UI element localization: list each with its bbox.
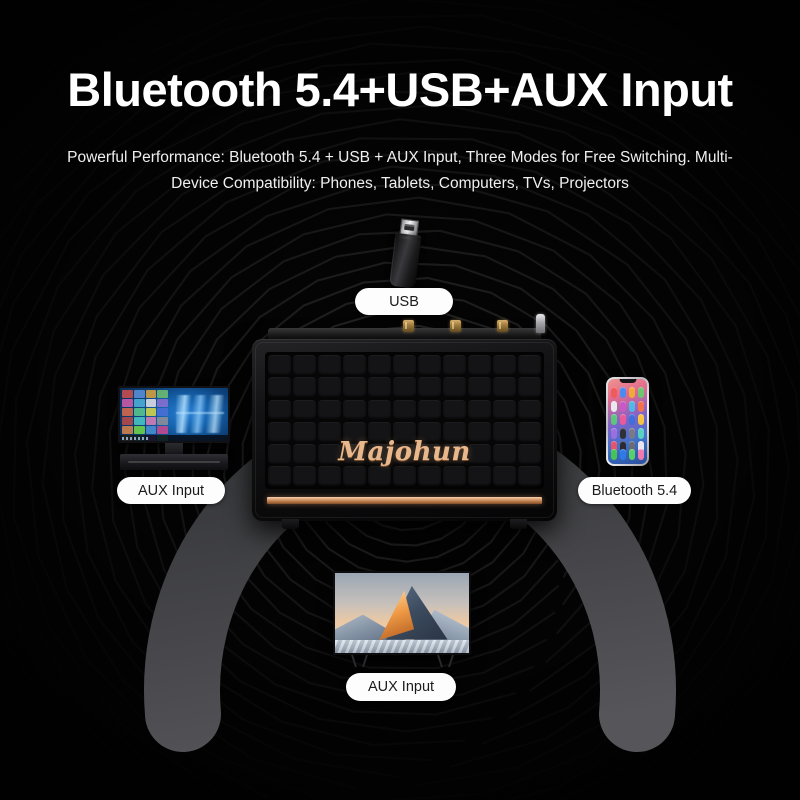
phone-dock-icon — [638, 449, 644, 460]
phone-app-icon — [638, 414, 644, 425]
page-title: Bluetooth 5.4+USB+AUX Input — [0, 62, 800, 117]
grille-cell — [293, 400, 316, 420]
monitor-stand-base — [120, 454, 228, 470]
grille-cell — [268, 422, 291, 442]
grille-cell — [318, 377, 341, 397]
desktop-icon — [146, 417, 157, 425]
grille-cell — [468, 400, 491, 420]
phone-app-icon — [611, 387, 617, 398]
taskbar — [120, 435, 228, 441]
grille-cell — [343, 377, 366, 397]
phone-app-icon — [629, 387, 635, 398]
product-marketing-image: Bluetooth 5.4+USB+AUX Input Powerful Per… — [0, 0, 800, 800]
desktop-icon — [134, 417, 145, 425]
grille-cell — [318, 355, 341, 375]
desktop-icon — [134, 390, 145, 398]
tv-screen — [335, 573, 469, 653]
badge-aux-input-tv: AUX Input — [346, 673, 456, 701]
tv-foot-left-a — [351, 655, 357, 667]
page-subtitle: Powerful Performance: Bluetooth 5.4 + US… — [50, 145, 750, 197]
phone-app-icon — [629, 428, 635, 439]
grille-cell — [418, 377, 441, 397]
grille-cell — [468, 444, 491, 464]
smartphone-icon — [606, 377, 649, 466]
speaker-copper-trim — [267, 497, 542, 504]
grille-cell — [318, 422, 341, 442]
desktop-icon — [146, 390, 157, 398]
phone-app-icon — [629, 401, 635, 412]
grille-cell — [443, 444, 466, 464]
speaker-knob-1[interactable] — [403, 320, 414, 332]
phone-app-icon — [629, 414, 635, 425]
grille-cell — [368, 400, 391, 420]
grille-cell — [493, 400, 516, 420]
phone-app-icon — [638, 387, 644, 398]
grille-cell — [293, 466, 316, 486]
desktop-icons — [122, 390, 168, 434]
desktop-icon — [146, 399, 157, 407]
grille-cell — [318, 444, 341, 464]
grille-cell — [268, 400, 291, 420]
grille-cell — [518, 466, 541, 486]
grille-cell — [268, 466, 291, 486]
phone-app-icon — [611, 401, 617, 412]
grille-cell — [318, 400, 341, 420]
desktop-icon — [134, 426, 145, 434]
grille-cell — [293, 355, 316, 375]
desktop-icon — [122, 390, 133, 398]
grille-cell — [393, 355, 416, 375]
desktop-icon — [157, 417, 168, 425]
tv-foot-right-a — [437, 655, 443, 667]
desktop-icon — [157, 390, 168, 398]
phone-app-icon — [620, 401, 626, 412]
desktop-monitor-icon — [118, 386, 230, 470]
grille-cell — [343, 355, 366, 375]
grille-cell — [393, 400, 416, 420]
badge-usb: USB — [355, 288, 453, 315]
phone-frame — [606, 377, 649, 466]
grille-cell — [268, 377, 291, 397]
grille-cell — [493, 377, 516, 397]
tv-foot-right-b — [448, 655, 454, 667]
grille-cell — [443, 400, 466, 420]
grille-cell — [393, 377, 416, 397]
grille-cell — [368, 444, 391, 464]
grille-cell — [418, 400, 441, 420]
grille-cell — [518, 444, 541, 464]
grille-cell — [418, 444, 441, 464]
grille-cell — [268, 355, 291, 375]
grille-cell — [293, 377, 316, 397]
grille-cell — [343, 422, 366, 442]
phone-app-icon — [638, 401, 644, 412]
speaker-grille — [265, 352, 544, 489]
phone-dock-icon — [611, 449, 617, 460]
badge-bluetooth: Bluetooth 5.4 — [578, 477, 691, 504]
desktop-icon — [146, 408, 157, 416]
speaker-knob-2[interactable] — [450, 320, 461, 332]
desktop-icon — [157, 399, 168, 407]
badge-aux-input-monitor: AUX Input — [117, 477, 225, 504]
grille-cell — [293, 444, 316, 464]
monitor-screen — [120, 388, 228, 441]
television-icon — [333, 571, 471, 668]
grille-cell — [468, 377, 491, 397]
phone-notch — [619, 379, 636, 383]
phone-app-icon — [611, 414, 617, 425]
grille-cell — [418, 422, 441, 442]
grille-cell — [268, 444, 291, 464]
monitor-bezel — [118, 386, 230, 443]
speaker-knob-3[interactable] — [497, 320, 508, 332]
phone-app-icon — [620, 414, 626, 425]
grille-cell — [293, 422, 316, 442]
speaker-cabinet: Majohun — [252, 339, 557, 521]
phone-app-grid — [611, 387, 644, 452]
grille-cell — [493, 444, 516, 464]
phone-screen — [608, 379, 647, 464]
grille-cell — [493, 466, 516, 486]
grille-cell — [393, 466, 416, 486]
desktop-icon — [134, 399, 145, 407]
grille-cell — [343, 466, 366, 486]
grille-cell — [318, 466, 341, 486]
phone-app-icon — [620, 428, 626, 439]
tv-foot-left-b — [362, 655, 368, 667]
grille-cell — [343, 444, 366, 464]
grille-cell — [418, 355, 441, 375]
grille-cell — [393, 422, 416, 442]
grille-cell — [343, 400, 366, 420]
grille-cell — [493, 422, 516, 442]
desktop-icon — [122, 417, 133, 425]
grille-cell — [368, 466, 391, 486]
snowfield-layer — [335, 640, 469, 653]
grille-cell — [468, 422, 491, 442]
phone-app-icon — [620, 387, 626, 398]
grille-cell — [443, 377, 466, 397]
phone-app-icon — [611, 428, 617, 439]
grille-cell — [443, 355, 466, 375]
windows-wallpaper-logo — [176, 395, 224, 432]
tv-bezel — [333, 571, 471, 655]
grille-cell — [493, 355, 516, 375]
grille-cell — [443, 466, 466, 486]
phone-dock — [611, 449, 644, 460]
bluetooth-speaker: Majohun — [252, 339, 557, 521]
grille-cell — [468, 355, 491, 375]
grille-cell — [468, 466, 491, 486]
grille-cell — [443, 422, 466, 442]
grille-cell — [518, 400, 541, 420]
grille-cell — [393, 444, 416, 464]
desktop-icon — [122, 399, 133, 407]
speaker-foot-left — [282, 519, 299, 529]
grille-cell — [368, 377, 391, 397]
grille-cell — [518, 355, 541, 375]
desktop-icon — [157, 426, 168, 434]
phone-dock-icon — [629, 449, 635, 460]
grille-cell — [368, 355, 391, 375]
grille-cell — [518, 377, 541, 397]
phone-app-icon — [638, 428, 644, 439]
phone-dock-icon — [620, 449, 626, 460]
grille-cell — [518, 422, 541, 442]
desktop-icon — [122, 426, 133, 434]
desktop-icon — [134, 408, 145, 416]
speaker-foot-right — [510, 519, 527, 529]
grille-cell — [418, 466, 441, 486]
grille-cell — [368, 422, 391, 442]
desktop-icon — [122, 408, 133, 416]
speaker-antenna-switch[interactable] — [536, 314, 545, 333]
desktop-icon — [157, 408, 168, 416]
desktop-icon — [146, 426, 157, 434]
